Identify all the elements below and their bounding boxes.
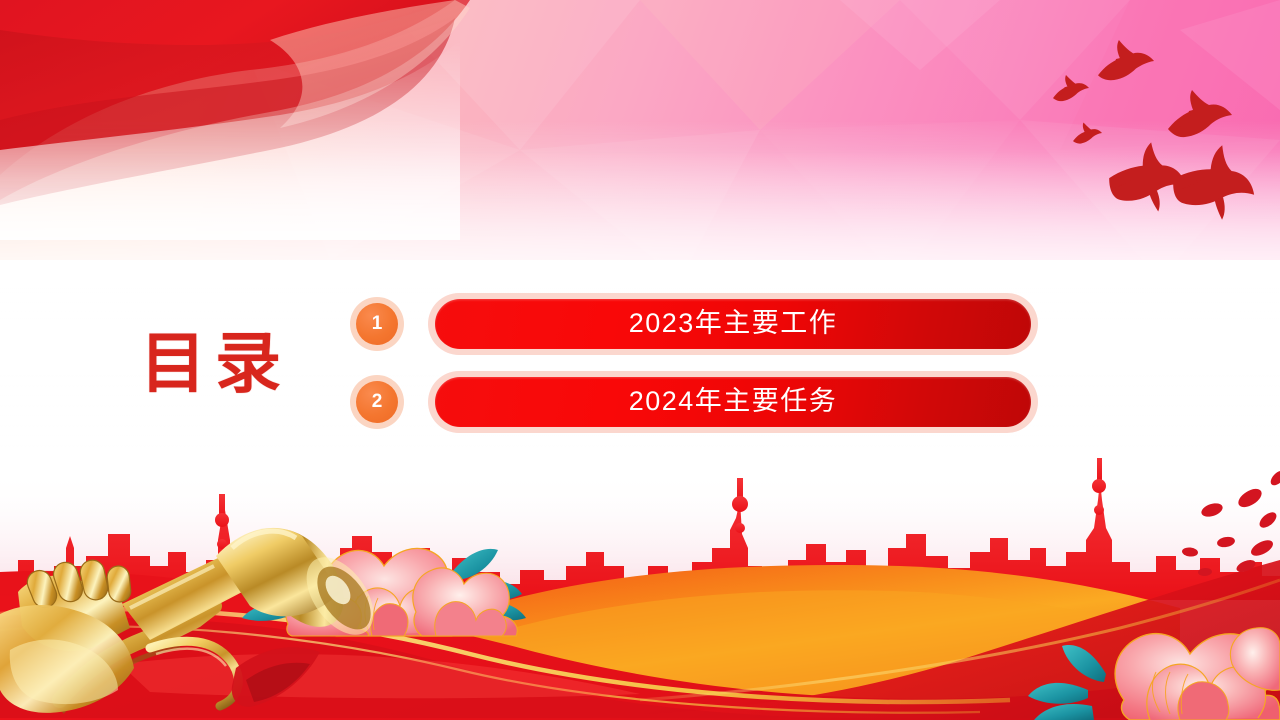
toc-label-1: 2023年主要工作 — [629, 310, 838, 337]
toc-item-1[interactable]: 1 2023年主要工作 — [350, 293, 1038, 355]
golden-palm — [0, 605, 134, 713]
toc-label-2: 2024年主要任务 — [629, 388, 838, 415]
dove-icon — [1053, 75, 1089, 101]
dove-icon — [1098, 40, 1154, 80]
toc-number-badge-1: 1 — [350, 297, 404, 351]
flying-doves — [1053, 40, 1266, 227]
toc-number-1: 1 — [356, 303, 398, 345]
trumpet-banner — [232, 647, 320, 707]
toc-item-2[interactable]: 2 2024年主要任务 — [350, 371, 1038, 433]
peony-bloom — [413, 568, 517, 636]
toc-bar-2[interactable]: 2024年主要任务 — [428, 371, 1038, 433]
pink-peony-flowers — [242, 548, 526, 636]
toc-bar-1[interactable]: 2023年主要工作 — [428, 293, 1038, 355]
flying-petals — [1182, 468, 1280, 576]
red-flag-ribbon — [0, 0, 470, 240]
peony-bloom — [1115, 634, 1280, 720]
toc-number-badge-2: 2 — [350, 375, 404, 429]
page-title: 目录 — [140, 332, 290, 398]
table-of-contents: 目录 1 2023年主要工作 2 2024年主要 — [0, 275, 1280, 450]
trumpet-bell — [216, 513, 387, 647]
red-city-skyline — [0, 458, 1280, 600]
golden-fingers — [24, 558, 132, 611]
dove-icon — [1168, 90, 1232, 137]
dove-icon — [1073, 123, 1102, 144]
peony-leaves — [242, 549, 526, 621]
pink-peony-flowers-right — [1028, 628, 1280, 720]
bottom-haze — [0, 470, 1280, 590]
dove-icon — [1166, 134, 1265, 227]
background-top-gradient — [0, 0, 1280, 260]
red-orange-silk-ribbon — [0, 560, 1280, 720]
slide-canvas: 目录 1 2023年主要工作 2 2024年主要 — [0, 0, 1280, 720]
peony-leaves — [1028, 645, 1106, 720]
golden-hand-trumpet — [0, 513, 387, 713]
peony-bloom — [324, 548, 476, 636]
golden-hand — [18, 576, 130, 651]
toc-list: 1 2023年主要工作 2 2024年主要任务 — [350, 293, 1038, 433]
dove-icon — [1105, 135, 1193, 215]
peony-bloom — [286, 592, 369, 636]
toc-number-2: 2 — [356, 381, 398, 423]
peony-bloom — [1230, 628, 1280, 691]
trumpet-pipe — [122, 558, 246, 640]
